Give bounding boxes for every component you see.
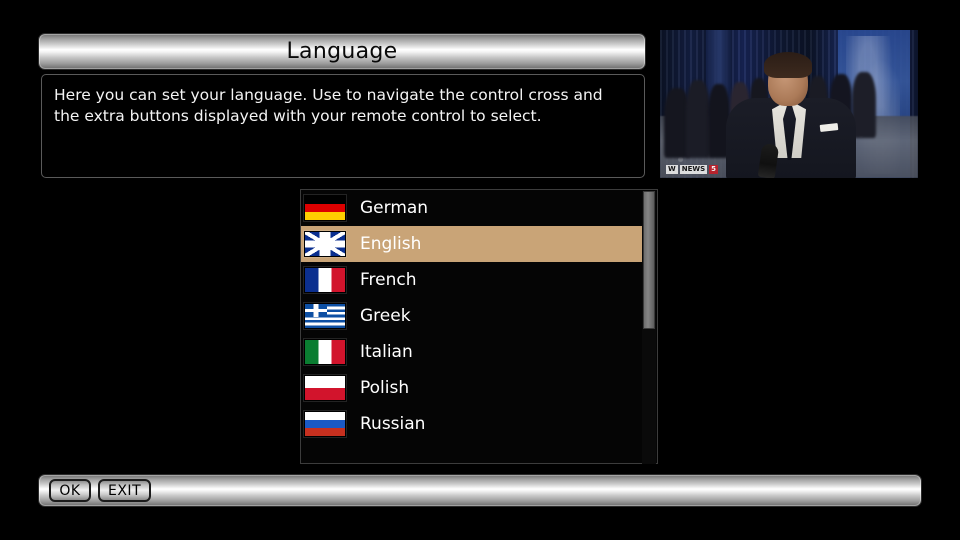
list-scrollbar-thumb[interactable] <box>643 191 655 329</box>
flag-russia-icon <box>304 411 346 437</box>
language-list: German English French Greek Italian Poli <box>301 190 643 463</box>
flag-united-kingdom-icon <box>304 231 346 257</box>
description-panel: Here you can set your language. Use to n… <box>41 74 645 178</box>
channel-logo-part-2: NEWS <box>680 165 707 174</box>
flag-france-icon <box>304 267 346 293</box>
list-item-label: Italian <box>360 342 413 362</box>
reporter-hair <box>764 52 812 78</box>
list-item[interactable]: Greek <box>301 298 643 334</box>
list-item[interactable]: German <box>301 190 643 226</box>
bottom-action-bar: OK EXIT <box>38 474 922 507</box>
list-item[interactable]: English <box>301 226 643 262</box>
ok-button[interactable]: OK <box>49 479 91 502</box>
channel-logo: W NEWS 5 <box>666 165 718 174</box>
list-item[interactable]: French <box>301 262 643 298</box>
list-item[interactable]: Polish <box>301 370 643 406</box>
crowd-figure <box>686 80 710 158</box>
list-item-label: Greek <box>360 306 411 326</box>
channel-logo-part-3: 5 <box>709 165 718 174</box>
channel-logo-part-1: W <box>666 165 678 174</box>
video-preview[interactable]: W NEWS 5 <box>660 30 918 178</box>
flag-greece-icon <box>304 303 346 329</box>
title-bar: Language <box>38 33 646 70</box>
list-item[interactable]: Italian <box>301 334 643 370</box>
flag-germany-icon <box>304 195 346 221</box>
list-item[interactable]: Russian <box>301 406 643 442</box>
list-item-label: Polish <box>360 378 409 398</box>
flag-italy-icon <box>304 339 346 365</box>
flag-poland-icon <box>304 375 346 401</box>
language-list-panel[interactable]: German English French Greek Italian Poli <box>300 189 658 464</box>
list-scrollbar[interactable] <box>642 191 656 464</box>
osd-screen: Language Here you can set your language.… <box>0 0 960 540</box>
list-item-label: English <box>360 234 421 254</box>
description-text: Here you can set your language. Use to n… <box>54 85 632 127</box>
exit-button[interactable]: EXIT <box>98 479 151 502</box>
page-title: Language <box>287 39 398 64</box>
list-item-label: French <box>360 270 417 290</box>
list-item-label: Russian <box>360 414 425 434</box>
list-item-label: German <box>360 198 428 218</box>
